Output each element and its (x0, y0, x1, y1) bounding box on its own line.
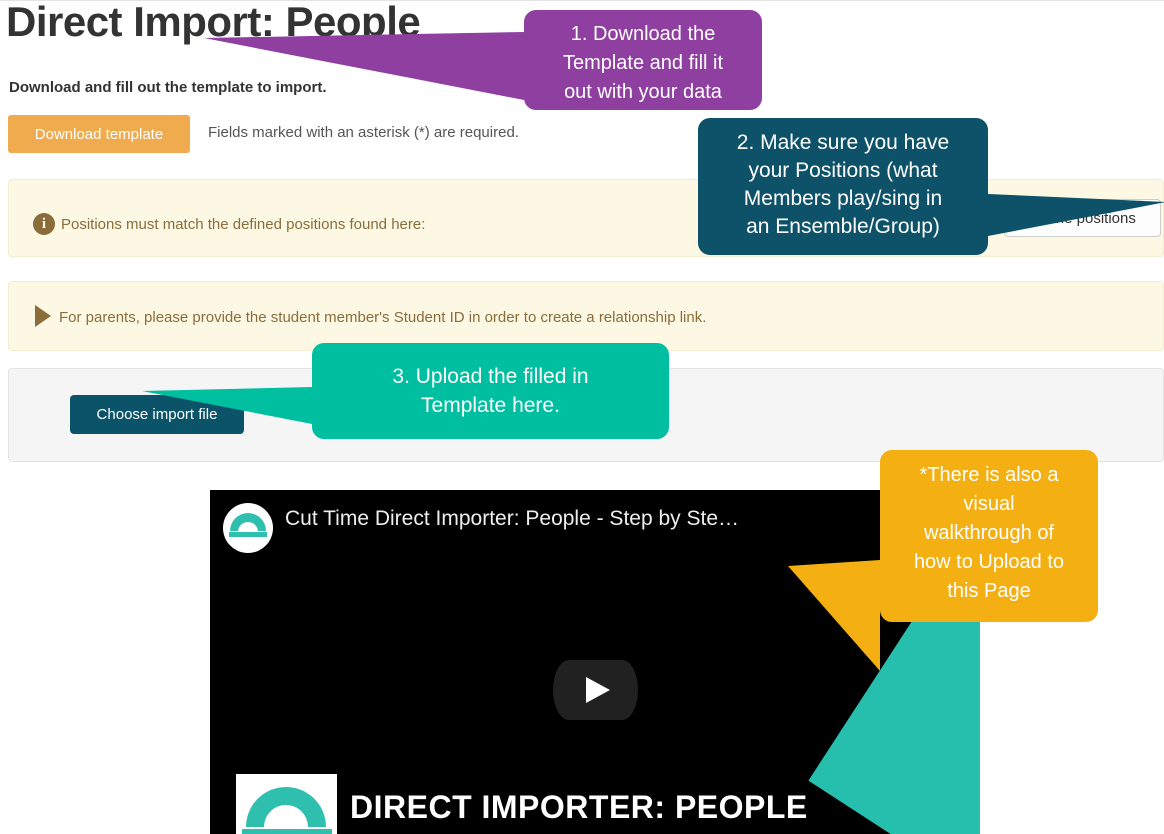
callout-step-2: 2. Make sure you have your Positions (wh… (698, 118, 988, 255)
callout-note-walkthrough-text: *There is also a visual walkthrough of h… (890, 461, 1088, 606)
callout-step-3-text: 3. Upload the filled in Template here. (326, 362, 655, 420)
alert-parents-text: For parents, please provide the student … (59, 309, 706, 326)
play-button[interactable] (553, 660, 638, 720)
callout-note-walkthrough: *There is also a visual walkthrough of h… (880, 450, 1098, 622)
callout-step-2-tail (988, 194, 1164, 236)
channel-avatar-icon[interactable] (223, 503, 273, 553)
channel-avatar-bar (229, 532, 267, 537)
callout-step-1-tail (204, 32, 524, 100)
callout-step-2-text: 2. Make sure you have your Positions (wh… (710, 129, 976, 241)
callout-step-1-text: 1. Download the Template and fill it out… (536, 20, 750, 107)
thumbnail-title: DIRECT IMPORTER: PEOPLE (350, 789, 808, 826)
required-fields-note: Fields marked with an asterisk (*) are r… (208, 124, 519, 141)
thumbnail-logo-bar (242, 829, 332, 834)
alert-parents: For parents, please provide the student … (8, 281, 1164, 351)
callout-step-3-tail (142, 387, 312, 424)
callout-step-1: 1. Download the Template and fill it out… (524, 10, 762, 110)
alert-positions-text: Positions must match the defined positio… (61, 216, 425, 233)
callout-note-walkthrough-tail (788, 560, 880, 671)
download-template-button[interactable]: Download template (8, 115, 190, 153)
caret-right-icon (35, 305, 51, 327)
info-icon: i (33, 213, 55, 235)
video-title[interactable]: Cut Time Direct Importer: People - Step … (285, 507, 765, 531)
thumbnail-logo-icon (236, 774, 337, 834)
callout-step-3: 3. Upload the filled in Template here. (312, 343, 669, 439)
